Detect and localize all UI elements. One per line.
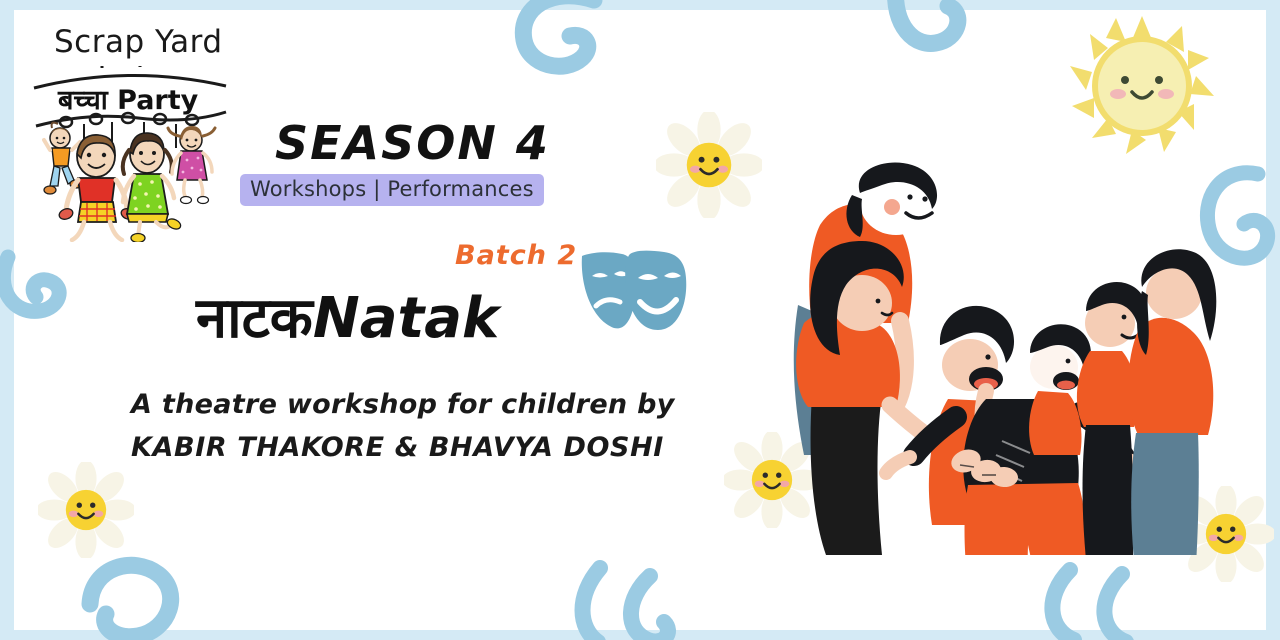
workshop-description: A theatre workshop for children by KABIR…: [131, 383, 675, 469]
season-heading: SEASON 4: [275, 116, 550, 170]
hanging-children-illustration: [28, 110, 233, 242]
title-latin: Natak: [313, 286, 499, 351]
logo-text-scrap-yard: Scrap Yard: [54, 24, 223, 60]
theatre-masks-icon: [578, 248, 690, 334]
smiling-daisy-icon-bottom-left: [38, 462, 134, 558]
description-line-1: A theatre workshop for children by: [131, 383, 675, 426]
subtitle-highlight: Workshops | Performances: [240, 174, 544, 206]
title-devanagari: नाटक: [196, 286, 313, 351]
children-theatre-group-illustration: [790, 155, 1220, 555]
description-line-2: KABIR THAKORE & BHAVYA DOSHI: [131, 426, 675, 469]
smiling-daisy-icon-top: [656, 112, 762, 218]
subtitle-text: Workshops | Performances: [250, 177, 534, 201]
batch-label: Batch 2: [455, 240, 577, 271]
scrap-yard-logo[interactable]: Scrap Yard बच्चा Party: [28, 14, 233, 239]
promo-banner: Scrap Yard बच्चा Party: [0, 0, 1280, 640]
page-title: नाटकNatak: [196, 278, 499, 354]
smiling-sun-icon: [1068, 14, 1216, 156]
